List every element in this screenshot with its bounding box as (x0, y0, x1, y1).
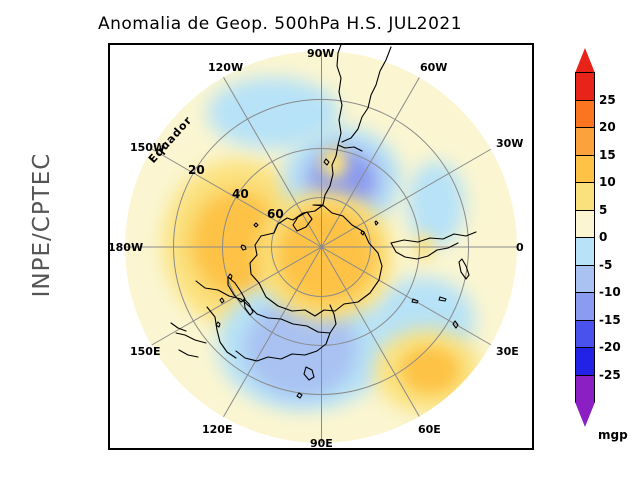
colorbar-tick-label: 25 (599, 93, 616, 107)
lat-label-40: 40 (232, 187, 249, 201)
lon-label-60E: 60E (418, 423, 441, 436)
colorbar-unit-label: mgp (598, 428, 628, 442)
lon-label-120W: 120W (208, 61, 243, 74)
colorbar-segment (575, 347, 595, 376)
lon-label-90E: 90E (310, 437, 333, 450)
lon-label-30E: 30E (496, 345, 519, 358)
lon-label-0: 0 (516, 241, 524, 254)
lat-label-60: 60 (267, 207, 284, 221)
lat-label-20: 20 (188, 163, 205, 177)
map-frame: 90W 120W 150W 180W 150E 120E 90E 60E 30E… (108, 43, 534, 450)
lon-label-120E: 120E (202, 423, 232, 436)
colorbar-segment (575, 127, 595, 156)
colorbar: 2520151050-5-10-15-20-25 (575, 72, 595, 402)
lon-label-90W: 90W (307, 47, 334, 60)
colorbar-segment (575, 210, 595, 239)
lon-label-150E: 150E (130, 345, 160, 358)
colorbar-segment (575, 320, 595, 349)
lon-label-30W: 30W (496, 137, 523, 150)
colorbar-tick-label: 20 (599, 120, 616, 134)
colorbar-tick-label: -15 (599, 313, 621, 327)
colorbar-segment (575, 72, 595, 101)
colorbar-segment (575, 100, 595, 129)
colorbar-tick-label: 10 (599, 175, 616, 189)
colorbar-segment (575, 237, 595, 266)
colorbar-tick-label: -20 (599, 340, 621, 354)
institution-label: INPE/CPTEC (29, 110, 55, 340)
colorbar-segment (575, 292, 595, 321)
colorbar-segment (575, 265, 595, 294)
colorbar-segment (575, 182, 595, 211)
colorbar-tick-label: -10 (599, 285, 621, 299)
colorbar-tick-label: -25 (599, 368, 621, 382)
colorbar-arrow-top (575, 48, 595, 73)
colorbar-segment (575, 375, 595, 404)
colorbar-tick-label: -5 (599, 258, 612, 272)
colorbar-segment (575, 155, 595, 184)
lon-label-180W: 180W (108, 241, 143, 254)
colorbar-tick-label: 5 (599, 203, 607, 217)
colorbar-tick-label: 15 (599, 148, 616, 162)
chart-title: Anomalia de Geop. 500hPa H.S. JUL2021 (0, 14, 560, 34)
colorbar-tick-label: 0 (599, 230, 607, 244)
colorbar-arrow-bottom (575, 402, 595, 427)
lon-label-60W: 60W (420, 61, 447, 74)
coastlines (110, 45, 534, 450)
